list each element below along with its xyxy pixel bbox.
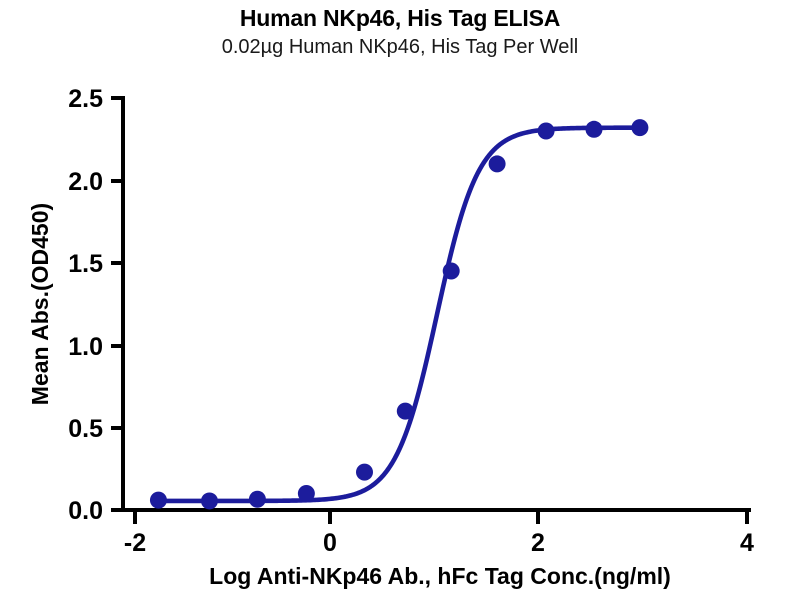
- x-axis-tick-labels: -2 0 2 4: [124, 529, 754, 557]
- y-ticklabel-4: 2.0: [68, 168, 103, 196]
- y-ticklabel-2: 1.0: [68, 333, 103, 361]
- data-point: [397, 403, 414, 420]
- data-point: [631, 119, 648, 136]
- data-point: [298, 485, 315, 502]
- data-point: [489, 155, 506, 172]
- y-axis-title: Mean Abs.(OD450): [27, 203, 53, 405]
- x-ticklabel-0: -2: [124, 529, 146, 557]
- y-ticklabel-3: 1.5: [68, 250, 103, 278]
- data-point: [201, 492, 218, 509]
- x-ticklabel-3: 4: [740, 529, 754, 557]
- data-point: [443, 263, 460, 280]
- data-series-layer: [150, 119, 648, 509]
- data-point: [249, 491, 266, 508]
- fit-curve-0: [158, 128, 639, 501]
- x-axis-title: Log Anti-NKp46 Ab., hFc Tag Conc.(ng/ml): [209, 563, 671, 589]
- x-ticklabel-1: 0: [323, 529, 337, 557]
- axes: [123, 98, 749, 510]
- data-point: [586, 121, 603, 138]
- elisa-chart-figure: Human NKp46, His Tag ELISA 0.02µg Human …: [0, 0, 800, 600]
- data-point: [538, 122, 555, 139]
- y-ticklabel-0: 0.0: [68, 497, 103, 525]
- x-axis-ticks: [135, 510, 747, 524]
- data-point: [356, 464, 373, 481]
- x-ticklabel-2: 2: [531, 529, 545, 557]
- y-ticklabel-1: 0.5: [68, 415, 103, 443]
- plot-area: 2.5 2.0 1.5 1.0 0.5 0.0 -2 0 2 4 Mean Ab…: [0, 0, 800, 600]
- y-axis-tick-labels: 2.5 2.0 1.5 1.0 0.5 0.0: [68, 85, 103, 525]
- data-point: [150, 492, 167, 509]
- y-ticklabel-5: 2.5: [68, 85, 103, 113]
